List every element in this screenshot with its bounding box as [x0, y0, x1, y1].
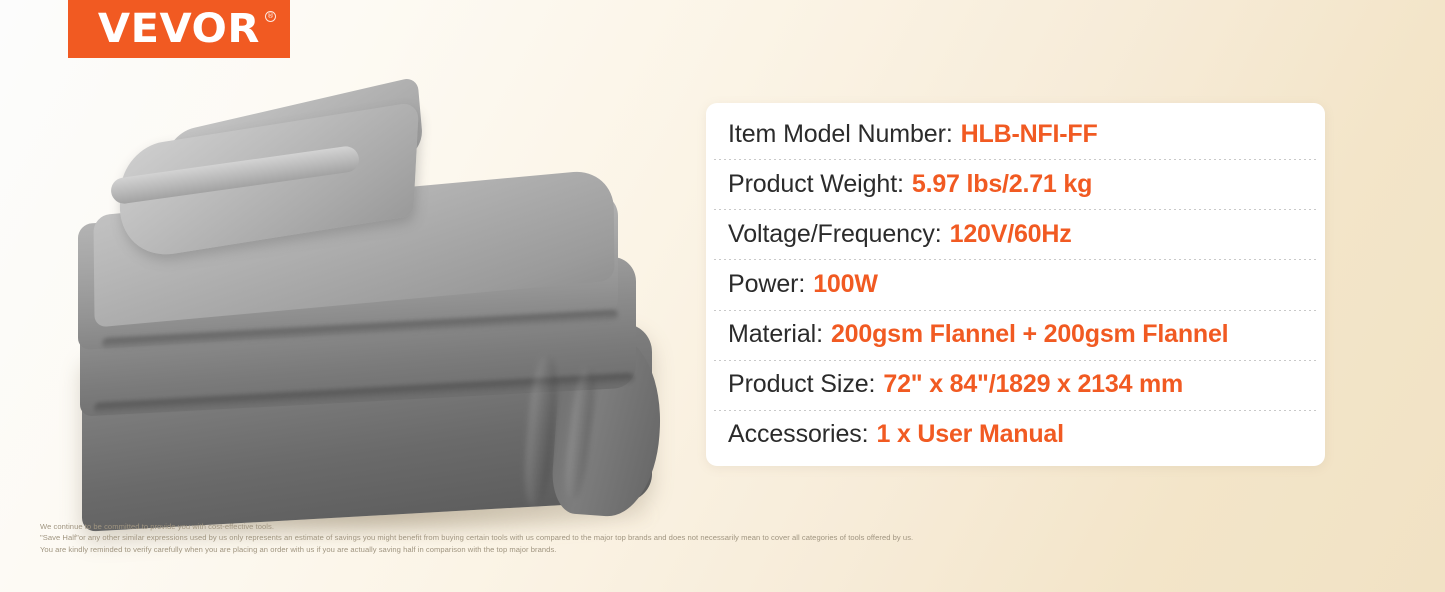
spec-label: Voltage/Frequency:	[728, 220, 942, 249]
spec-row-accessories: Accessories: 1 x User Manual	[706, 410, 1325, 460]
spec-row-voltage-frequency: Voltage/Frequency: 120V/60Hz	[706, 209, 1325, 259]
product-spec-banner: VEVOR ® Item Model Number: HLB-NFI-FF Pr	[0, 0, 1445, 592]
spec-row-material: Material: 200gsm Flannel + 200gsm Flanne…	[706, 310, 1325, 360]
spec-value: 5.97 lbs/2.71 kg	[912, 170, 1092, 199]
spec-row-item-model-number: Item Model Number: HLB-NFI-FF	[706, 109, 1325, 159]
vevor-logo: VEVOR ®	[68, 0, 290, 58]
spec-label: Product Weight:	[728, 170, 904, 199]
spec-value: 200gsm Flannel + 200gsm Flannel	[831, 320, 1228, 349]
spec-label: Power:	[728, 270, 805, 299]
spec-row-product-size: Product Size: 72" x 84"/1829 x 2134 mm	[706, 360, 1325, 410]
disclaimer-line-1: We continue to be committed to provide y…	[40, 521, 1340, 532]
spec-label: Item Model Number:	[728, 120, 953, 149]
disclaimer-line-2: "Save Half"or any other similar expressi…	[40, 532, 1340, 543]
disclaimer-text: We continue to be committed to provide y…	[40, 521, 1340, 555]
spec-value: 120V/60Hz	[950, 220, 1072, 249]
spec-value: 100W	[813, 270, 878, 299]
spec-value: HLB-NFI-FF	[961, 120, 1098, 149]
brand-wordmark: VEVOR	[98, 9, 260, 49]
product-image-blanket-stack	[58, 88, 686, 526]
blanket-illustration	[58, 88, 686, 526]
spec-row-product-weight: Product Weight: 5.97 lbs/2.71 kg	[706, 159, 1325, 209]
specification-card: Item Model Number: HLB-NFI-FF Product We…	[706, 103, 1325, 466]
disclaimer-line-3: You are kindly reminded to verify carefu…	[40, 544, 1340, 555]
spec-value: 72" x 84"/1829 x 2134 mm	[883, 370, 1183, 399]
spec-label: Material:	[728, 320, 823, 349]
spec-value: 1 x User Manual	[877, 420, 1064, 449]
registered-trademark-icon: ®	[265, 11, 276, 22]
spec-row-power: Power: 100W	[706, 259, 1325, 309]
spec-label: Accessories:	[728, 420, 869, 449]
spec-label: Product Size:	[728, 370, 875, 399]
